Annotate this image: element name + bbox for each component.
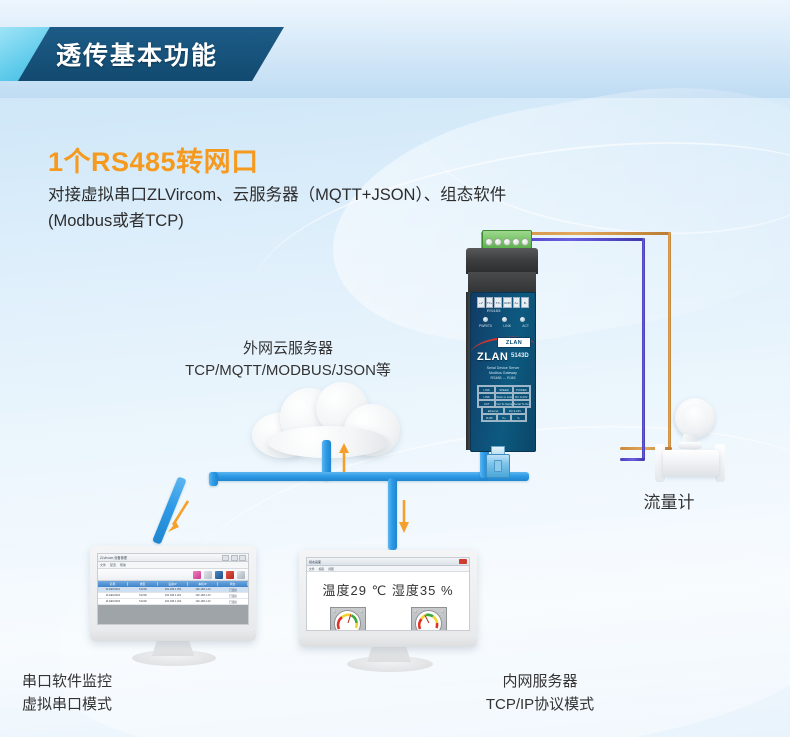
menu-item-help[interactable]: 帮助: [120, 563, 126, 567]
temperature-unit: ℃: [372, 583, 388, 598]
stop-icon[interactable]: [226, 571, 234, 579]
cell: ZLDEV0003: [98, 600, 128, 603]
flowmeter-icon: [645, 398, 737, 490]
conn-cell: DC 9-24V: [504, 407, 526, 414]
right-monitor-caption-line1: 内网服务器: [440, 670, 640, 693]
app-titlebar: ZLVircom 设备管理: [98, 554, 248, 562]
device-subtitle-line3: RS485 ↔ RJ45: [478, 376, 528, 381]
app-title-text: ZLVircom 设备管理: [100, 555, 127, 560]
device-port-labels: +V TX+ TX- GND A+ B-: [477, 297, 529, 308]
cell: 已连接: [218, 600, 248, 604]
page-title: 1个RS485转网口: [48, 140, 259, 179]
temperature-label: 温度: [322, 583, 350, 598]
cell: 192.168.1.254: [158, 588, 188, 591]
col-header-type: 类型: [128, 582, 158, 586]
spec-cell: LINK: [478, 386, 495, 393]
cell: 已连接: [218, 588, 248, 592]
col-header-name: 名称: [98, 582, 128, 586]
cell: 192.168.1.20: [188, 588, 218, 591]
cell: 已连接: [218, 594, 248, 598]
cell: 192.168.1.202: [158, 600, 188, 603]
device-led-labels: PWR/TX LINK ACT: [479, 324, 529, 328]
humidity-unit: %: [441, 583, 454, 598]
scada-gauge-row: [307, 607, 469, 631]
page-description-line1: 对接虚拟串口ZLVircom、云服务器（MQTT+JSON）、组态软件: [48, 186, 506, 204]
flowmeter-collar: [678, 442, 702, 449]
cell: 192.168.1.20: [188, 594, 218, 597]
led-label-1: LINK: [503, 324, 511, 328]
flowmeter-display: [677, 400, 712, 435]
conn-cell: V+: [497, 414, 512, 421]
arrow-down-right-pc: [396, 500, 412, 534]
humidity-label: 湿度: [392, 583, 420, 598]
scada-menu-file[interactable]: 文件: [309, 567, 315, 571]
scada-menu-view[interactable]: 视图: [328, 567, 334, 571]
rj45-connector: [486, 446, 508, 476]
spec-cell: Work or Link: [495, 393, 512, 400]
temperature-gauge-dial: [334, 610, 361, 632]
device-conn-row: Ethernet DC 9-24V: [482, 407, 526, 414]
add-device-icon[interactable]: [193, 571, 201, 579]
page-description-line2: (Modbus或者TCP): [48, 212, 184, 230]
cell: 192.168.1.201: [158, 594, 188, 597]
temperature-gauge: [330, 607, 366, 631]
window-controls[interactable]: [222, 555, 246, 561]
port-label-3: GND: [503, 297, 512, 308]
menu-item-file[interactable]: 文件: [100, 563, 106, 567]
page-description: 对接虚拟串口ZLVircom、云服务器（MQTT+JSON）、组态软件 (Mod…: [48, 182, 518, 234]
menu-item-config[interactable]: 配置: [110, 563, 116, 567]
device-spec-row: LINK Work or Link DC 9-24V: [478, 393, 530, 400]
scada-menubar[interactable]: 文件 编辑 视图: [307, 566, 469, 572]
humidity-value: 35: [420, 583, 436, 598]
search-icon[interactable]: [204, 571, 212, 579]
port-label-2: TX-: [494, 297, 502, 308]
col-header-local-ip: 本机IP: [188, 582, 218, 586]
humidity-gauge-dial: [415, 610, 442, 632]
left-monitor: ZLVircom 设备管理 文件 配置 帮助 名称 类型: [90, 546, 256, 666]
cell: ZLDEV0002: [98, 594, 128, 597]
right-monitor-caption: 内网服务器 TCP/IP协议模式: [440, 670, 640, 716]
zlan-device-module: +V TX+ TX- GND A+ B- RS485 PWR/TX LINK A…: [466, 248, 538, 460]
left-monitor-caption: 串口软件监控 虚拟串口模式: [22, 670, 252, 716]
led-label-0: PWR/TX: [479, 324, 492, 328]
device-mid-case: [468, 272, 536, 294]
app-toolbar[interactable]: [98, 569, 248, 581]
left-monitor-caption-line2: 虚拟串口模式: [22, 693, 252, 716]
device-led-group: [483, 317, 525, 322]
spec-cell: DC 9-24V: [513, 393, 530, 400]
device-spec-row: LINK SPEED POWER: [478, 386, 530, 393]
cable-left-corner: [209, 472, 218, 486]
cell: 5143D: [128, 594, 158, 597]
info-icon[interactable]: [237, 571, 245, 579]
zlan-brand-text: ZLAN: [477, 351, 508, 363]
spec-cell: POWER: [513, 386, 530, 393]
device-front-panel: +V TX+ TX- GND A+ B- RS485 PWR/TX LINK A…: [470, 292, 536, 452]
flowmeter-body: [663, 450, 719, 476]
left-monitor-screen: ZLVircom 设备管理 文件 配置 帮助 名称 类型: [97, 553, 249, 625]
right-monitor-caption-line2: TCP/IP协议模式: [440, 693, 640, 716]
spec-cell: LINK: [478, 393, 495, 400]
device-top-case: [466, 248, 538, 274]
arrow-up-to-cloud: [336, 443, 352, 473]
banner-plate: 透传基本功能: [18, 27, 284, 81]
device-rs485-label: RS485: [487, 308, 501, 313]
left-monitor-frame: ZLVircom 设备管理 文件 配置 帮助 名称 类型: [90, 546, 256, 641]
spec-cell: SPEED: [495, 386, 512, 393]
illustration-stage: 透传基本功能 1个RS485转网口 对接虚拟串口ZLVircom、云服务器（MQ…: [0, 0, 790, 737]
device-subtitle: Serial Device Server Modbus Gateway RS48…: [478, 366, 528, 381]
cell: ZLDEV0001: [98, 588, 128, 591]
port-label-0: +V: [477, 297, 485, 308]
settings-icon[interactable]: [215, 571, 223, 579]
right-monitor-frame: 组态画面 文件 编辑 视图 温度29 ℃ 湿度35 %: [299, 550, 477, 647]
cloud-label-line1: 外网云服务器: [148, 338, 428, 360]
col-header-status: 状态: [218, 582, 248, 586]
cell: 192.168.1.20: [188, 600, 218, 603]
scada-readout: 温度29 ℃ 湿度35 %: [307, 580, 469, 599]
conn-cell: V-: [511, 414, 526, 421]
app-menubar[interactable]: 文件 配置 帮助: [98, 562, 248, 569]
col-header-device-ip: 设备IP: [158, 582, 188, 586]
device-conn-row: RJ45 V+ V-: [482, 414, 526, 421]
humidity-gauge: [411, 607, 447, 631]
close-icon[interactable]: [459, 559, 467, 564]
scada-title-text: 组态画面: [309, 560, 321, 564]
cell: 5143D: [128, 588, 158, 591]
rs485-wire-purple-to-meter: [620, 458, 645, 461]
port-label-4: A+: [513, 297, 521, 308]
cell: 5143D: [128, 600, 158, 603]
cloud-label: 外网云服务器 TCP/MQTT/MODBUS/JSON等: [148, 338, 428, 382]
conn-cell: Ethernet: [482, 407, 504, 414]
port-label-5: B-: [521, 297, 529, 308]
conn-cell: RJ45: [482, 414, 497, 421]
scada-menu-edit[interactable]: 编辑: [319, 567, 325, 571]
zlan-logo-badge: ZLAN: [497, 337, 531, 348]
cloud-label-line2: TCP/MQTT/MODBUS/JSON等: [148, 360, 428, 382]
right-monitor: 组态画面 文件 编辑 视图 温度29 ℃ 湿度35 %: [299, 550, 477, 672]
left-monitor-caption-line1: 串口软件监控: [22, 670, 252, 693]
device-spec-table: LINK SPEED POWER LINK Work or Link DC 9-…: [477, 385, 531, 408]
right-monitor-screen: 组态画面 文件 编辑 视图 温度29 ℃ 湿度35 %: [306, 557, 470, 631]
arrow-down-left-pc: [164, 498, 194, 534]
flowmeter-label: 流量计: [604, 492, 734, 514]
temperature-value: 29: [351, 583, 367, 598]
zlan-model-text: 5143D: [511, 353, 529, 359]
scada-titlebar: 组态画面: [307, 558, 469, 566]
device-connector-table: Ethernet DC 9-24V RJ45 V+ V-: [481, 406, 527, 422]
port-label-1: TX+: [486, 297, 494, 308]
app-empty-area: [98, 605, 248, 625]
banner-title: 透传基本功能: [56, 36, 218, 72]
led-label-2: ACT: [522, 324, 529, 328]
